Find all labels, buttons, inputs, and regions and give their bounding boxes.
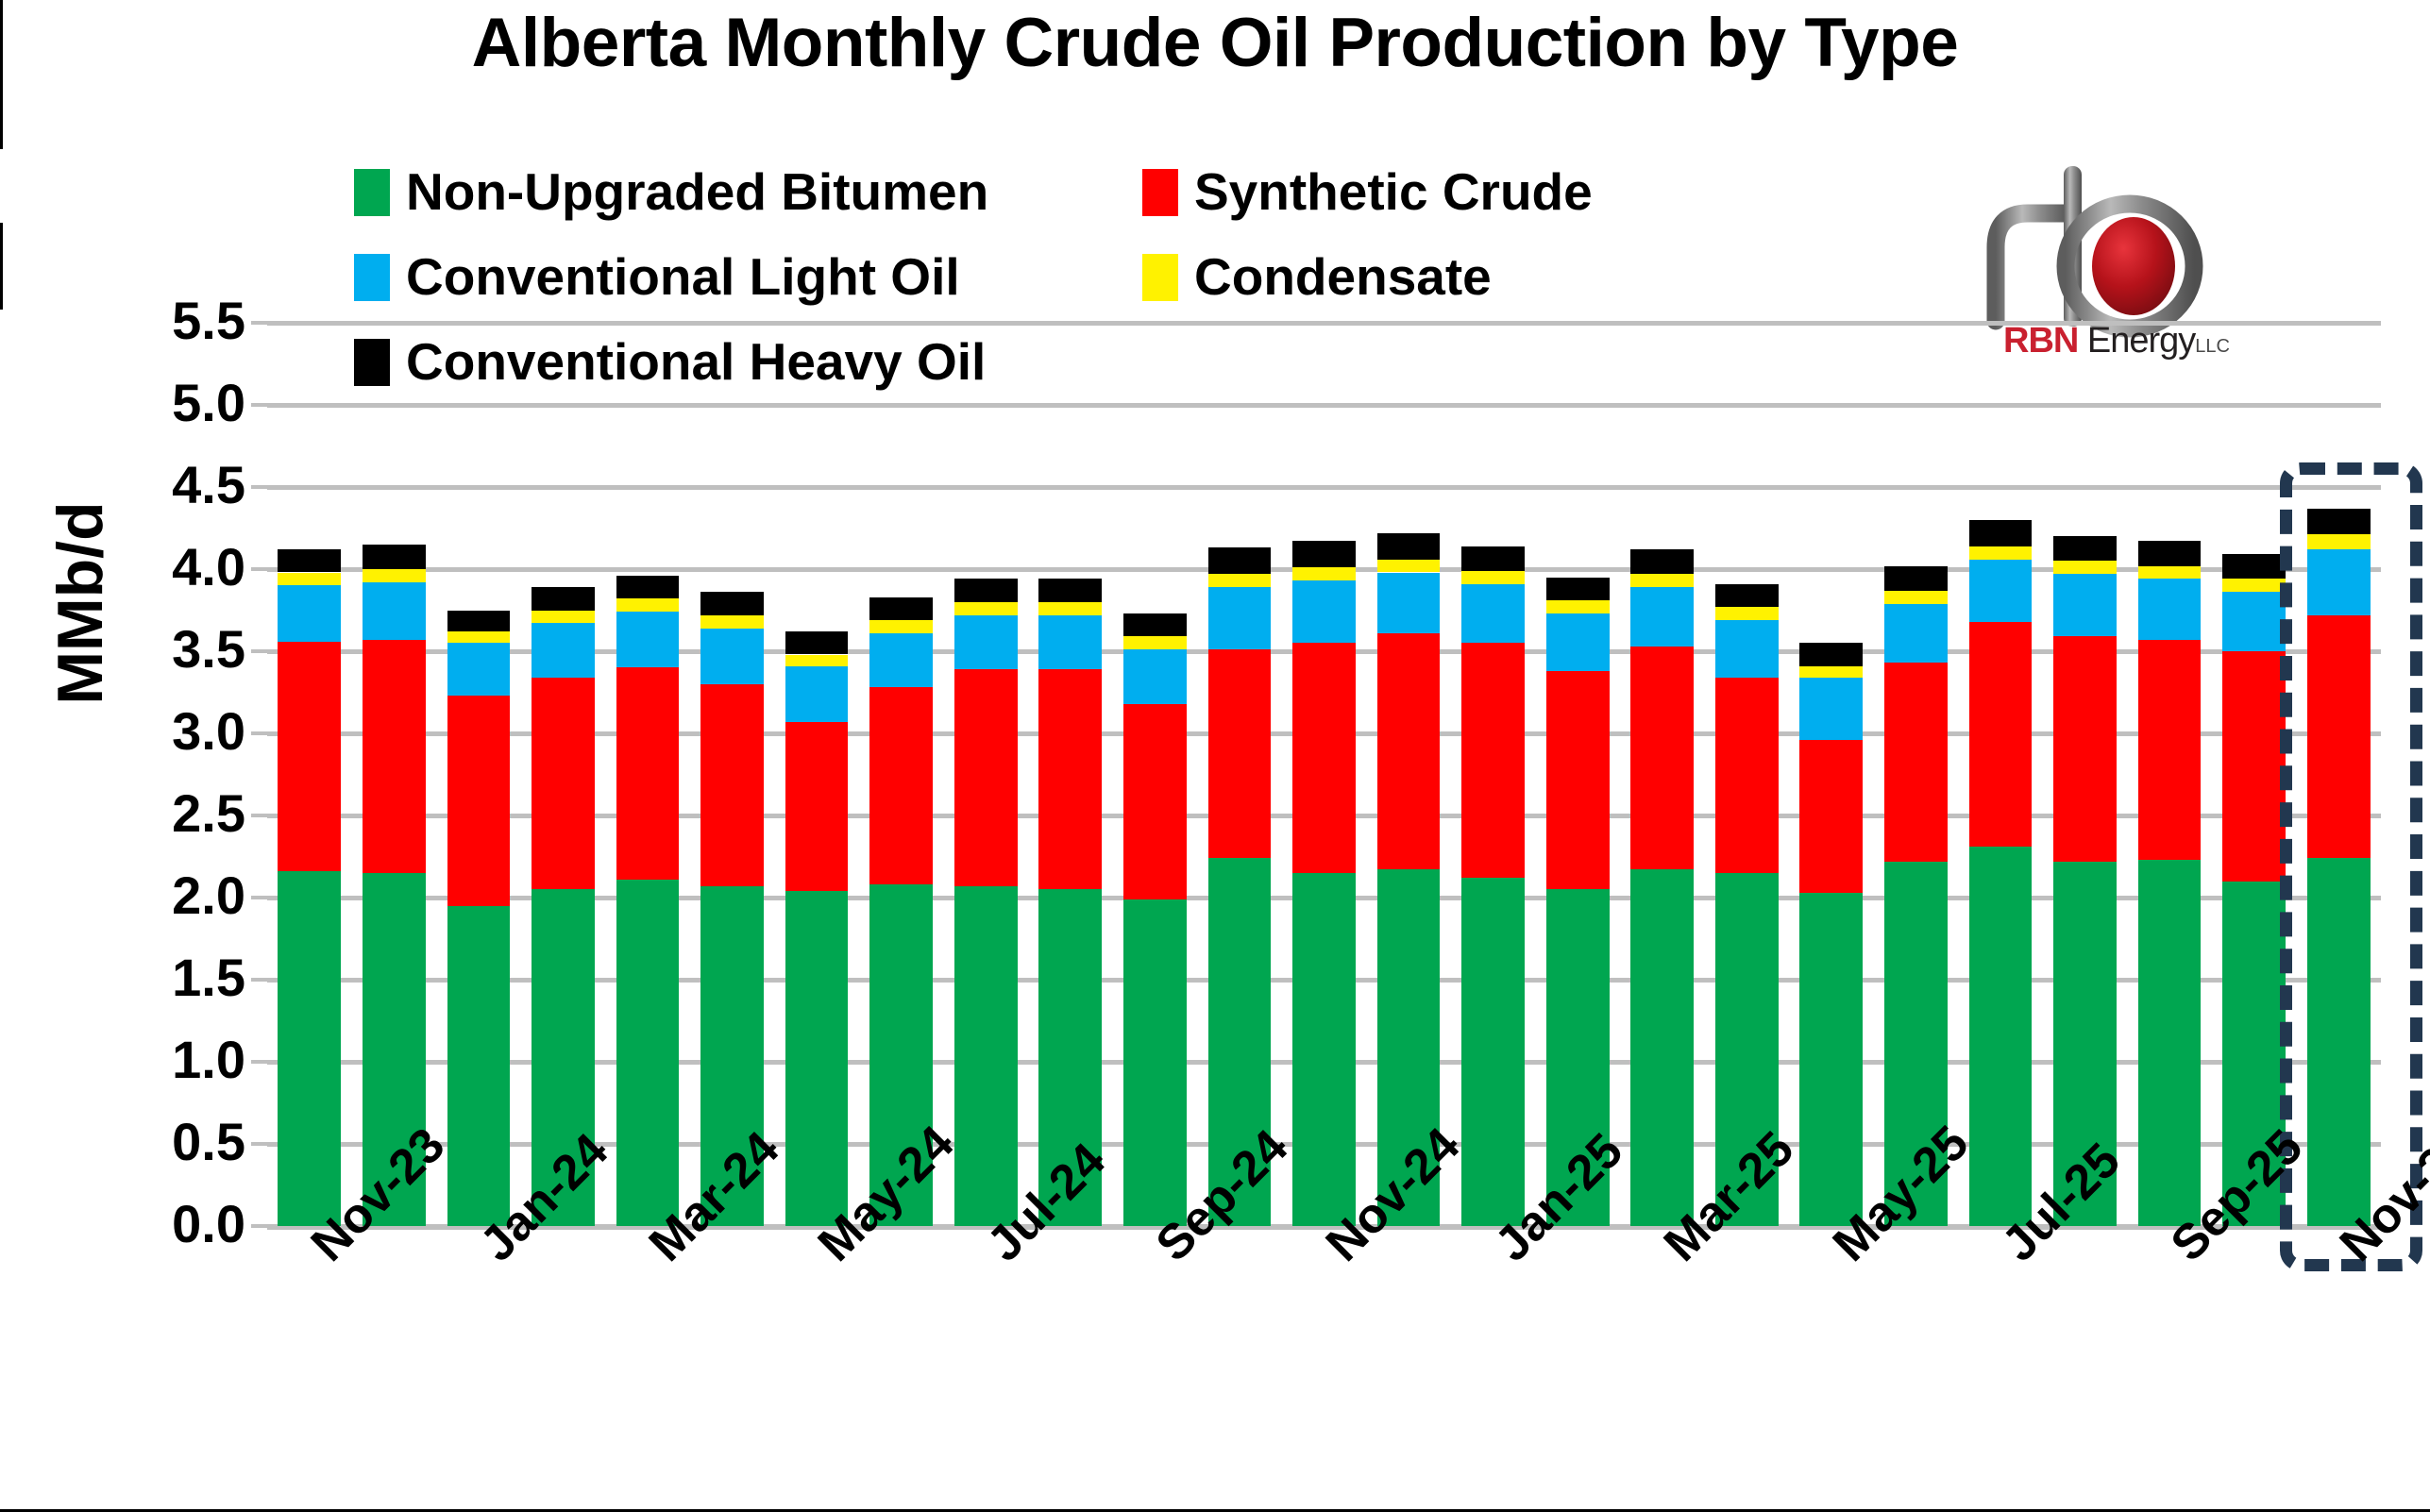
y-axis-tick-label: 2.5 [104,787,245,840]
bar-segment [1461,571,1525,584]
y-axis-tick-label: 5.5 [104,294,245,347]
bar-segment [1292,541,1356,567]
bar-segment [700,615,764,629]
bar-segment [447,696,511,906]
bar-segment [1630,574,1694,587]
y-axis-tick-label: 4.5 [104,459,245,512]
bar-segment [1630,549,1694,574]
bar-segment [532,623,595,677]
bar-segment [2138,566,2202,580]
bar-column[interactable] [2138,541,2202,1226]
bar-segment [2053,536,2117,561]
y-axis-tick-mark [251,403,267,407]
bar-segment [1799,678,1863,740]
legend-item-blue[interactable]: Conventional Light Oil [354,251,1142,303]
bar-segment [616,667,680,879]
legend-label: Conventional Light Oil [406,251,960,303]
bar-segment [1715,678,1779,873]
y-axis-tick-mark [251,731,267,735]
legend-label: Non-Upgraded Bitumen [406,166,988,218]
y-axis-tick-mark [251,567,267,571]
bar-segment [1969,560,2033,622]
bar-segment [2138,579,2202,639]
bar-segment [616,880,680,1226]
bar-column[interactable] [1123,613,1187,1226]
bar-segment [2307,615,2371,859]
bar-segment [2307,534,2371,549]
chart-title: Alberta Monthly Crude Oil Production by … [0,4,2430,82]
bar-column[interactable] [1969,520,2033,1226]
bar-segment [616,612,680,667]
bar-segment [2222,579,2286,592]
bar-segment [2307,858,2371,1226]
bar-segment [363,545,426,569]
bar-segment [2138,860,2202,1226]
bar-segment [447,643,511,696]
bar-segment [1630,869,1694,1226]
bar-segment [1969,847,2033,1226]
bar-column[interactable] [616,576,680,1226]
y-axis-tick-mark [251,1060,267,1064]
bar-segment [869,597,933,620]
blue-swatch-icon [354,254,390,301]
bar-segment [447,611,511,632]
bar-segment [1969,546,2033,560]
bar-segment [278,642,341,872]
y-axis-tick-mark [251,485,267,489]
bar-segment [2222,651,2286,882]
bar-segment [1884,566,1948,591]
bar-column[interactable] [447,611,511,1227]
bar-segment [616,576,680,598]
bar-segment [1969,622,2033,847]
y-axis-tick-label: 5.0 [104,377,245,429]
bar-column[interactable] [2053,536,2117,1226]
bar-column[interactable] [954,579,1018,1226]
bar-segment [785,722,849,891]
bar-segment [1799,643,1863,665]
y-axis-tick-mark [251,1224,267,1228]
bar-segment [2222,592,2286,651]
bar-column[interactable] [1799,643,1863,1226]
bar-segment [1799,740,1863,893]
bar-segment [278,573,341,586]
y-axis-tick-label: 0.5 [104,1116,245,1168]
bar-column[interactable] [785,631,849,1226]
bar-column[interactable] [1038,579,1102,1226]
y-axis-tick-mark [251,321,267,325]
legend-row: Non-Upgraded BitumenSynthetic Crude [354,166,1865,251]
bar-segment [954,602,1018,615]
bar-series-container [267,323,2381,1226]
bar-column[interactable] [278,549,341,1226]
y-axis-tick-mark [251,978,267,982]
bar-column[interactable] [1461,546,1525,1226]
bar-segment [1546,613,1610,671]
bar-segment [1969,520,2033,546]
bar-segment [954,669,1018,886]
bar-segment [1461,878,1525,1226]
frame-edge-mid [0,223,3,310]
bar-segment [2053,574,2117,636]
bar-segment [785,631,849,654]
y-axis-ticks: 5.55.04.54.03.53.02.52.01.51.00.50.0 [104,0,245,1512]
bar-segment [1292,567,1356,580]
bar-column[interactable] [2307,509,2371,1226]
bar-segment [1208,547,1272,574]
legend-label: Condensate [1194,251,1492,303]
bar-segment [1123,649,1187,703]
bar-segment [2053,636,2117,861]
bar-segment [954,579,1018,601]
legend-label: Synthetic Crude [1194,166,1593,218]
bar-segment [869,633,933,687]
y-axis-tick-mark [251,1142,267,1146]
y-axis-tick-label: 1.0 [104,1033,245,1086]
bar-segment [532,678,595,889]
y-axis-tick-label: 3.0 [104,705,245,758]
bar-column[interactable] [1630,549,1694,1226]
bar-segment [2222,554,2286,579]
chart-root: Alberta Monthly Crude Oil Production by … [0,0,2430,1512]
y-axis-tick-mark [251,814,267,817]
y-axis-tick-label: 2.0 [104,869,245,922]
bar-segment [1377,533,1441,560]
bar-segment [1123,636,1187,649]
bar-segment [1461,546,1525,571]
bar-segment [1123,704,1187,899]
bar-segment [1884,663,1948,862]
bar-segment [2307,549,2371,615]
bar-segment [1461,584,1525,644]
bar-segment [447,631,511,643]
bar-segment [1546,671,1610,889]
bar-segment [1123,613,1187,636]
red-swatch-icon [1142,169,1178,216]
bar-segment [1884,591,1948,604]
bar-segment [785,891,849,1226]
bar-segment [1461,643,1525,878]
bar-segment [278,585,341,641]
bar-segment [1292,643,1356,873]
y-axis-tick-label: 3.5 [104,623,245,676]
bar-segment [954,886,1018,1226]
bar-segment [700,629,764,684]
bar-segment [1038,669,1102,889]
bar-segment [1377,573,1441,633]
y-axis-tick-mark [251,649,267,653]
bar-segment [700,592,764,614]
bar-column[interactable] [1292,541,1356,1226]
bar-segment [869,687,933,884]
y-axis-tick-label: 1.5 [104,951,245,1004]
bar-segment [1038,615,1102,669]
bar-segment [1292,580,1356,643]
plot-area [267,323,2381,1226]
bar-segment [700,684,764,886]
bar-segment [447,906,511,1226]
bar-segment [1630,587,1694,647]
bar-segment [1546,578,1610,600]
bar-segment [532,587,595,610]
bar-segment [616,598,680,612]
bar-segment [1123,899,1187,1226]
bar-segment [1715,620,1779,678]
y-axis-tick-mark [251,896,267,899]
bar-segment [2307,509,2371,535]
legend-item-red[interactable]: Synthetic Crude [1142,166,1593,218]
bar-segment [1377,633,1441,870]
bar-segment [2138,541,2202,565]
bar-segment [532,611,595,624]
bar-segment [1715,607,1779,620]
bar-segment [785,655,849,666]
bar-segment [1799,893,1863,1226]
bar-segment [1292,873,1356,1226]
bar-segment [1630,647,1694,870]
bar-segment [2053,561,2117,574]
bar-segment [1884,604,1948,664]
legend-item-green[interactable]: Non-Upgraded Bitumen [354,166,1142,218]
bar-segment [363,569,426,582]
bar-segment [363,640,426,873]
bar-segment [785,666,849,722]
bar-segment [278,871,341,1226]
bar-segment [278,549,341,572]
bar-segment [1208,649,1272,858]
bar-segment [1799,666,1863,678]
bar-segment [1038,579,1102,601]
bar-segment [1715,584,1779,607]
y-axis-tick-label: 4.0 [104,541,245,594]
bar-segment [1208,587,1272,649]
y-axis-tick-label: 0.0 [104,1198,245,1251]
bar-segment [2138,640,2202,860]
green-swatch-icon [354,169,390,216]
bar-segment [954,615,1018,669]
legend-item-yellow[interactable]: Condensate [1142,251,1492,303]
bar-segment [1208,574,1272,587]
bar-segment [363,582,426,640]
bar-segment [1377,560,1441,573]
bar-segment [869,620,933,633]
bar-segment [1038,602,1102,615]
yellow-swatch-icon [1142,254,1178,301]
bar-segment [1546,600,1610,613]
x-axis-labels: Nov-23Jan-24Mar-24May-24Jul-24Sep-24Nov-… [267,1233,2381,1512]
